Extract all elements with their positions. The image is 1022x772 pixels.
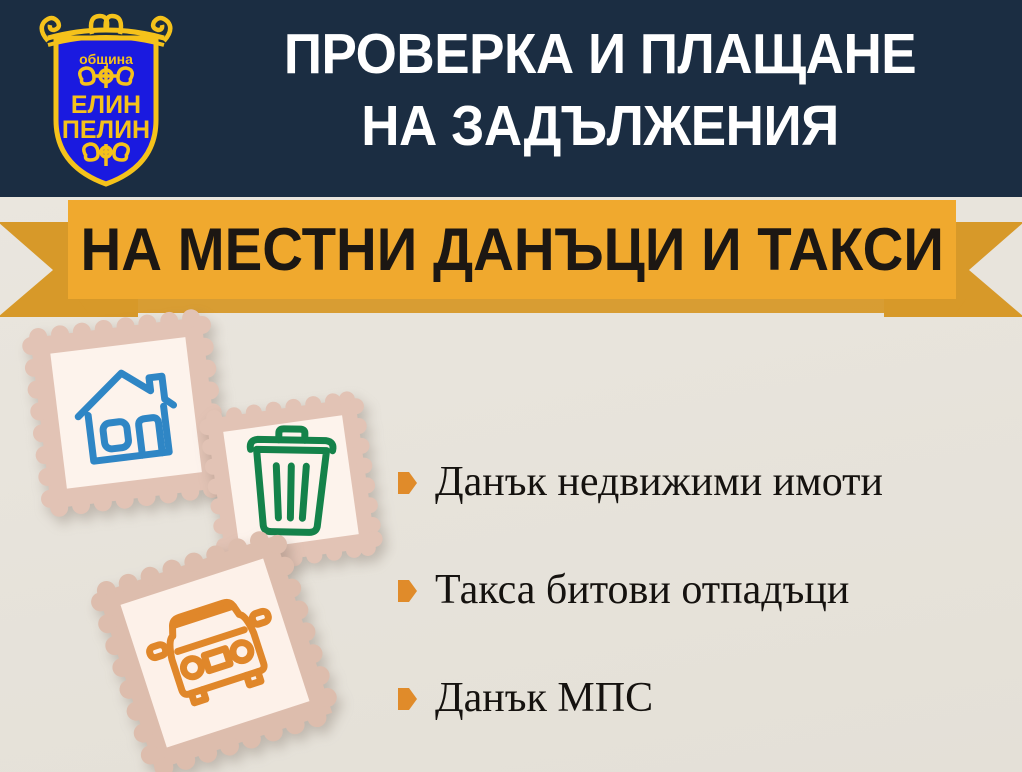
list-item[interactable]: Такса битови отпадъци	[398, 536, 1008, 644]
ribbon-body: НА МЕСТНИ ДАНЪЦИ И ТАКСИ	[68, 200, 956, 299]
tax-type-list: Данък недвижими имоти Такса битови отпад…	[398, 428, 1008, 752]
bullet-arrow-icon	[398, 580, 417, 602]
ribbon-label: НА МЕСТНИ ДАНЪЦИ И ТАКСИ	[80, 220, 943, 280]
page-title: ПРОВЕРКА И ПЛАЩАНЕ НА ЗАДЪЛЖЕНИЯ	[219, 18, 982, 162]
ribbon-banner: НА МЕСТНИ ДАНЪЦИ И ТАКСИ	[0, 197, 1022, 317]
bullet-arrow-icon	[398, 472, 417, 494]
list-item-label: Данък МПС	[435, 674, 653, 722]
crest-line3: ПЕЛИН	[62, 116, 150, 144]
bullet-arrow-icon	[398, 688, 417, 710]
list-item[interactable]: Данък МПС	[398, 644, 1008, 752]
list-item[interactable]: Данък недвижими имоти	[398, 428, 1008, 536]
list-item-label: Данък недвижими имоти	[435, 458, 883, 506]
stamp-card-vehicle	[90, 528, 340, 772]
list-item-label: Такса битови отпадъци	[435, 566, 849, 614]
coat-of-arms-icon: община ЕЛИН ПЕЛИН	[36, 8, 176, 190]
crest-line2: ЕЛИН	[71, 91, 141, 119]
crest-line1: община	[79, 51, 133, 67]
poster-canvas: община ЕЛИН ПЕЛИН ПРОВЕРКА И ПЛАЩАНЕ НА …	[0, 0, 1022, 772]
